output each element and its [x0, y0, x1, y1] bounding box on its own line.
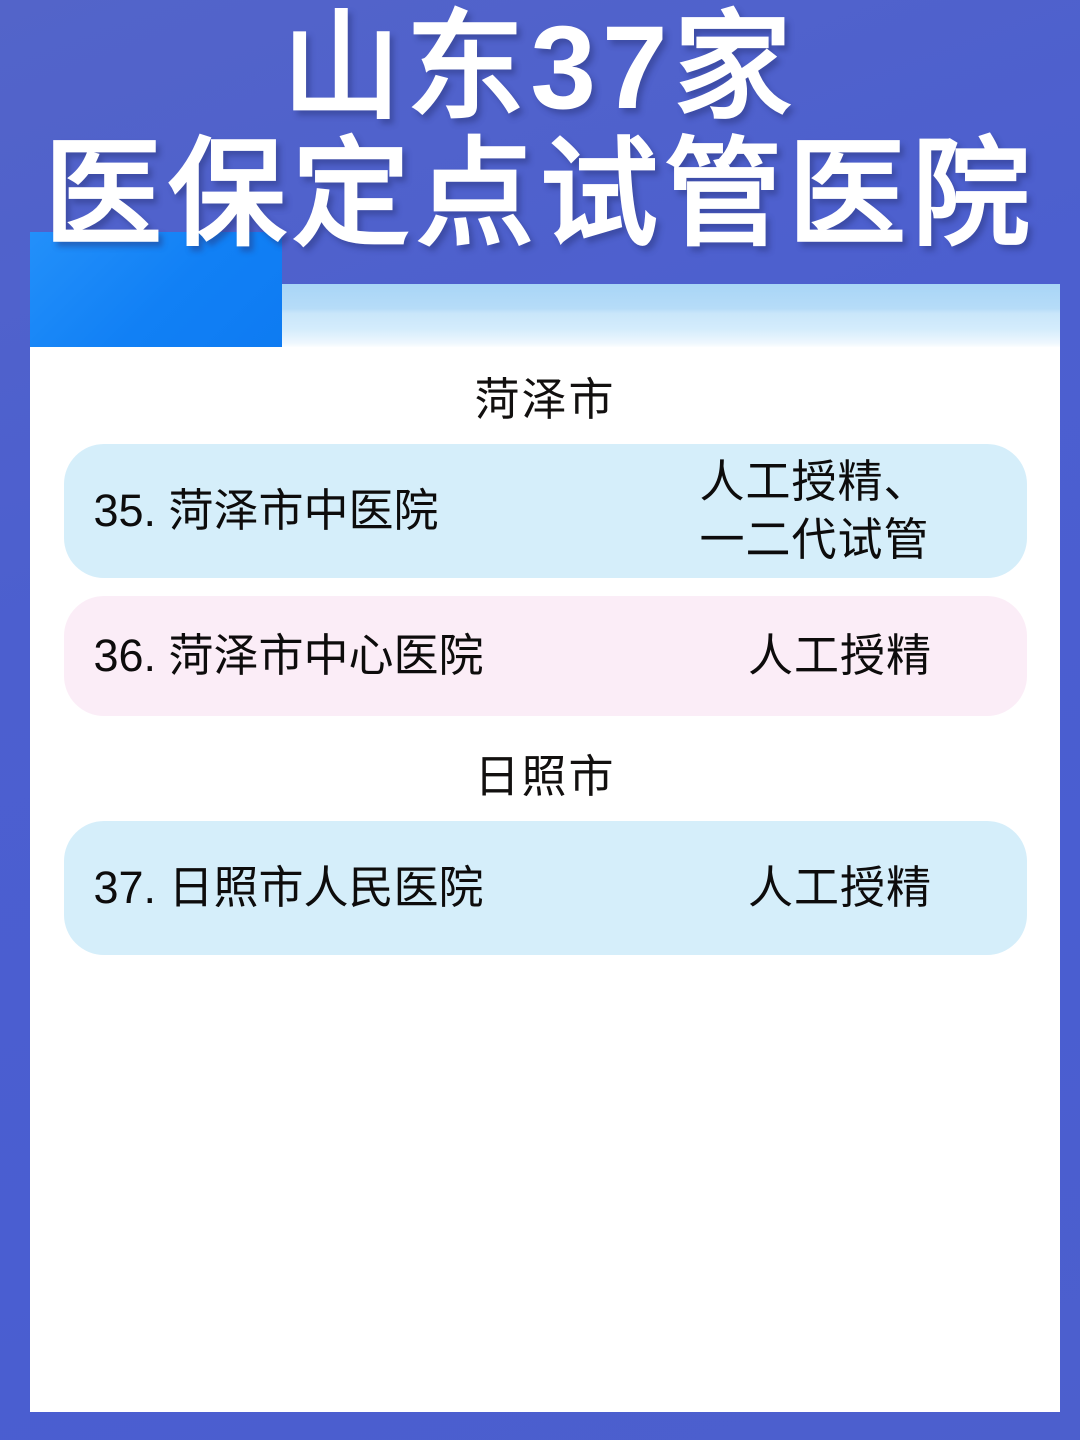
- service-line-1: 人工授精、: [700, 453, 1017, 512]
- hospital-service-37: 人工授精: [664, 859, 1027, 918]
- service-line-2: 一二代试管: [700, 511, 1017, 570]
- service-line-1: 人工授精: [664, 627, 1017, 686]
- hospital-list-card: 菏泽市 35. 菏泽市中医院 人工授精、 一二代试管 36. 菏泽市中心医院 人…: [30, 347, 1060, 1412]
- hospital-service-35: 人工授精、 一二代试管: [664, 453, 1027, 570]
- service-line-1: 人工授精: [664, 859, 1017, 918]
- hospital-name-37: 37. 日照市人民医院: [64, 860, 664, 916]
- city-header-rizhao: 日照市: [30, 716, 1060, 799]
- decorative-gradient-bar: [282, 284, 1060, 348]
- poster-title: 山东37家 医保定点试管医院: [0, 0, 1080, 258]
- hospital-name-35: 35. 菏泽市中医院: [64, 483, 664, 539]
- hospital-service-36: 人工授精: [664, 627, 1027, 686]
- spacer: [30, 578, 1060, 596]
- spacer: [30, 799, 1060, 821]
- hospital-row-36[interactable]: 36. 菏泽市中心医院 人工授精: [64, 596, 1027, 716]
- hospital-rows-rizhao: 37. 日照市人民医院 人工授精: [30, 821, 1060, 955]
- hospital-name-36: 36. 菏泽市中心医院: [64, 628, 664, 684]
- hospital-row-37[interactable]: 37. 日照市人民医院 人工授精: [64, 821, 1027, 955]
- poster-canvas: 山东37家 医保定点试管医院 菏泽市 35. 菏泽市中医院 人工授精、 一二代试…: [0, 0, 1080, 1440]
- hospital-rows-heze: 35. 菏泽市中医院 人工授精、 一二代试管 36. 菏泽市中心医院 人工授精: [30, 444, 1060, 716]
- spacer: [30, 422, 1060, 444]
- title-line-primary: 山东37家: [0, 6, 1080, 131]
- hospital-row-35[interactable]: 35. 菏泽市中医院 人工授精、 一二代试管: [64, 444, 1027, 578]
- title-line-secondary: 医保定点试管医院: [0, 133, 1080, 258]
- city-header-heze: 菏泽市: [30, 347, 1060, 422]
